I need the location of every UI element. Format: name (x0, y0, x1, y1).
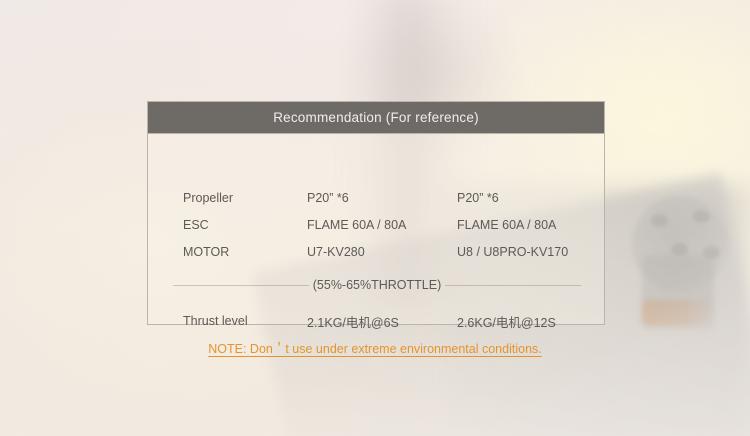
page-root: Recommendation (For reference) Propeller… (0, 0, 750, 436)
row-value-column-a: 2.1KG/电机@6S (307, 312, 399, 331)
row-label: MOTOR (183, 245, 229, 259)
table-row-propeller: Propeller P20” *6 P20” *6 (148, 184, 604, 212)
row-value-column-b: P20” *6 (457, 191, 499, 205)
row-label: ESC (183, 218, 209, 232)
note-container: NOTE: Don＇t use under extreme environmen… (0, 338, 750, 358)
recommendation-panel: Recommendation (For reference) Propeller… (147, 101, 605, 325)
table-row-esc: ESC FLAME 60A / 80A FLAME 60A / 80A (148, 211, 604, 239)
row-value-column-b: FLAME 60A / 80A (457, 218, 556, 232)
row-value-column-b: 2.6KG/电机@12S (457, 312, 556, 331)
row-value-column-a: FLAME 60A / 80A (307, 218, 406, 232)
table-row-thrust-level: Thrust level 2.1KG/电机@6S 2.6KG/电机@12S (148, 307, 604, 335)
row-label: Propeller (183, 191, 233, 205)
warning-note: NOTE: Don＇t use under extreme environmen… (208, 338, 542, 357)
throttle-caption: (55%-65%THROTTLE) (309, 278, 446, 292)
table-row-motor: MOTOR U7-KV280 U8 / U8PRO-KV170 (148, 238, 604, 266)
row-value-column-b: U8 / U8PRO-KV170 (457, 245, 568, 259)
row-value-column-a: U7-KV280 (307, 245, 365, 259)
divider-line-right (445, 285, 581, 286)
row-label: Thrust level (183, 314, 248, 328)
panel-header: Recommendation (For reference) (148, 102, 604, 134)
panel-title: Recommendation (For reference) (273, 110, 479, 125)
panel-body: Propeller P20” *6 P20” *6 ESC FLAME 60A … (148, 134, 604, 326)
throttle-divider: (55%-65%THROTTLE) (173, 278, 581, 292)
row-value-column-a: P20” *6 (307, 191, 349, 205)
divider-line-left (173, 285, 309, 286)
